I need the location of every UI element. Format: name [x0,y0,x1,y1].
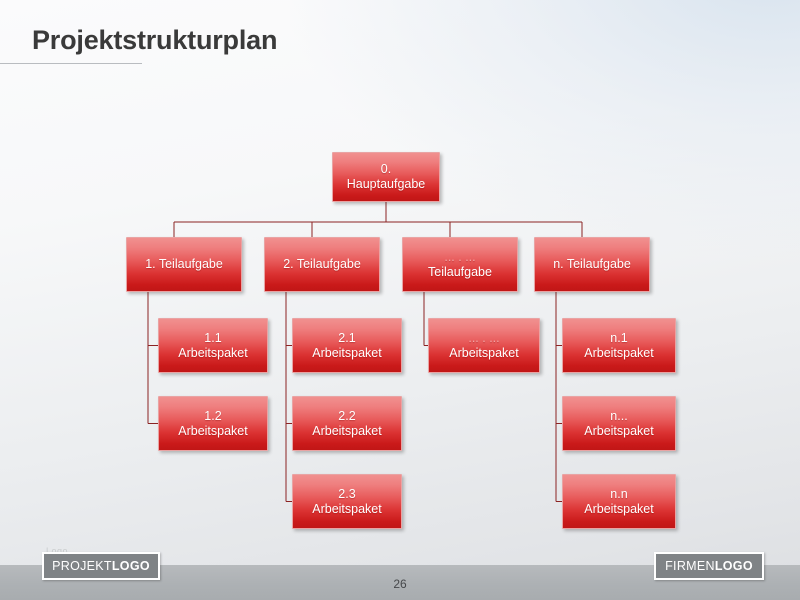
wbs-node-label: n.1Arbeitspaket [580,331,657,361]
wbs-node-label-line2: Teilaufgabe [428,265,492,280]
wbs-node-label-line2: Arbeitspaket [312,346,381,361]
wbs-node-label-line2: Arbeitspaket [312,502,381,517]
firmen-logo-bold: LOGO [715,559,753,573]
wbs-node-label: 2. Teilaufgabe [279,257,365,272]
wbs-node-label-line2: Arbeitspaket [584,502,653,517]
wbs-node-t1[interactable]: 1. Teilaufgabe [126,237,242,292]
wbs-node-label-line2: Arbeitspaket [178,346,247,361]
wbs-node-a11[interactable]: 1.1Arbeitspaket [158,318,268,373]
wbs-node-a22[interactable]: 2.2Arbeitspaket [292,396,402,451]
wbs-node-label: 0.Hauptaufgabe [343,162,430,192]
wbs-node-label: 1.2Arbeitspaket [174,409,251,439]
wbs-node-a23[interactable]: 2.3Arbeitspaket [292,474,402,529]
wbs-node-label-line1: 2.3 [312,487,381,502]
wbs-node-label: n.nArbeitspaket [580,487,657,517]
wbs-node-label: 1. Teilaufgabe [141,257,227,272]
wbs-node-label-line1: n... [584,409,653,424]
wbs-node-label-line2: Arbeitspaket [312,424,381,439]
wbs-node-a31[interactable]: ... . ...Arbeitspaket [428,318,540,373]
slide-canvas: Projektstrukturplan 0.Hauptaufgabe1. Tei… [0,0,800,600]
wbs-node-label-line1: 1. Teilaufgabe [145,257,223,272]
wbs-node-label: n. Teilaufgabe [549,257,635,272]
wbs-node-label-line1: 2.1 [312,331,381,346]
page-number: 26 [0,577,800,591]
wbs-node-label-line1: 2.2 [312,409,381,424]
wbs-node-label-line1: 2. Teilaufgabe [283,257,361,272]
wbs-node-label-line1: n. Teilaufgabe [553,257,631,272]
wbs-node-an1[interactable]: n.1Arbeitspaket [562,318,676,373]
wbs-node-label: 1.1Arbeitspaket [174,331,251,361]
wbs-node-label-line1: ... . ... [449,331,518,346]
firmen-logo-regular: FIRMEN [665,559,715,573]
wbs-node-label-line2: Hauptaufgabe [347,177,426,192]
wbs-node-label: 2.2Arbeitspaket [308,409,385,439]
wbs-node-annn[interactable]: n.nArbeitspaket [562,474,676,529]
wbs-node-t4[interactable]: n. Teilaufgabe [534,237,650,292]
wbs-node-a12[interactable]: 1.2Arbeitspaket [158,396,268,451]
wbs-diagram: 0.Hauptaufgabe1. Teilaufgabe2. Teilaufga… [0,0,800,600]
wbs-node-t3[interactable]: ... . ...Teilaufgabe [402,237,518,292]
wbs-node-label: ... . ...Teilaufgabe [424,250,496,280]
wbs-node-root[interactable]: 0.Hauptaufgabe [332,152,440,202]
wbs-node-t2[interactable]: 2. Teilaufgabe [264,237,380,292]
wbs-node-ann[interactable]: n...Arbeitspaket [562,396,676,451]
projekt-logo[interactable]: PROJEKTLOGO [42,552,160,580]
wbs-node-label-line1: n.1 [584,331,653,346]
wbs-node-label-line1: 1.1 [178,331,247,346]
wbs-node-a21[interactable]: 2.1Arbeitspaket [292,318,402,373]
wbs-node-label: n...Arbeitspaket [580,409,657,439]
projekt-logo-regular: PROJEKT [52,559,112,573]
wbs-node-label-line2: Arbeitspaket [449,346,518,361]
wbs-node-label: 2.1Arbeitspaket [308,331,385,361]
wbs-node-label: 2.3Arbeitspaket [308,487,385,517]
wbs-node-label-line1: n.n [584,487,653,502]
wbs-node-label: ... . ...Arbeitspaket [445,331,522,361]
wbs-node-label-line1: 0. [347,162,426,177]
wbs-node-label-line2: Arbeitspaket [178,424,247,439]
wbs-node-label-line1: 1.2 [178,409,247,424]
wbs-node-label-line2: Arbeitspaket [584,346,653,361]
firmen-logo[interactable]: FIRMENLOGO [654,552,764,580]
projekt-logo-bold: LOGO [112,559,150,573]
wbs-node-label-line1: ... . ... [428,250,492,265]
wbs-node-label-line2: Arbeitspaket [584,424,653,439]
